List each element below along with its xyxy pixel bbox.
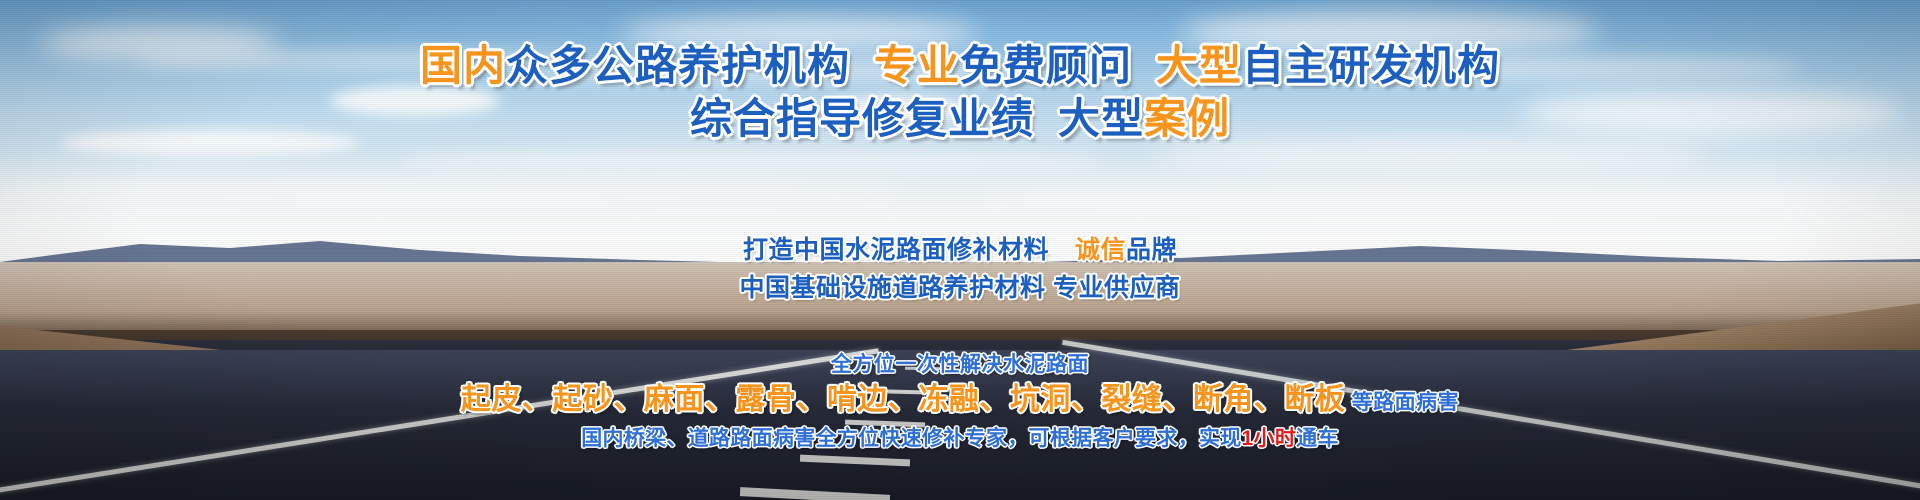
subheadline-segment: 品牌 [1126, 236, 1177, 264]
bottom-segment: 等路面病害 [1345, 391, 1459, 414]
headline-segment: 众多公路养护机构 [506, 42, 850, 89]
headline-block: 国内众多公路养护机构专业免费顾问大型自主研发机构 综合指导修复业绩大型案例 [0, 40, 1920, 144]
bottom-line-2: 起皮、起砂、麻面、露骨、啃边、冻融、坑洞、裂缝、断角、断板 等路面病害 [0, 380, 1920, 419]
headline-segment: 自主研发机构 [1242, 42, 1500, 89]
headline-line-2: 综合指导修复业绩大型案例 [0, 93, 1920, 144]
banner-content: 国内众多公路养护机构专业免费顾问大型自主研发机构 综合指导修复业绩大型案例 打造… [0, 0, 1920, 500]
headline-segment: 免费顾问 [960, 42, 1132, 89]
bottom-segment-highlight: 1小时 [1242, 427, 1297, 450]
subheadline-segment: 专业供应商 [1046, 274, 1181, 302]
headline-segment: 案例 [1144, 95, 1230, 142]
bottom-line-1: 全方位一次性解决水泥路面 [0, 352, 1920, 378]
bottom-segment: 起皮、起砂、麻面、露骨、啃边、冻融、坑洞、裂缝、断角、断板 [461, 383, 1346, 416]
headline-segment: 国内 [420, 42, 506, 89]
subheadline-line-1: 打造中国水泥路面修补材料诚信品牌 [0, 232, 1920, 270]
bottom-segment: 全方位一次性解决水泥路面 [831, 353, 1089, 376]
bottom-segment: 通车 [1296, 427, 1339, 450]
subheadline-segment: 打造中国水泥路面修补材料 [743, 236, 1049, 264]
bottom-segment: 国内桥梁、道路路面病害全方位快速修补专家，可根据客户要求，实现 [581, 427, 1241, 450]
subheadline-segment: 中国基础设施道路养护材料 [740, 274, 1046, 302]
headline-segment: 大型 [1058, 95, 1144, 142]
headline-segment: 综合指导修复业绩 [690, 95, 1034, 142]
subheadline-block: 打造中国水泥路面修补材料诚信品牌 中国基础设施道路养护材料 专业供应商 [0, 232, 1920, 307]
subheadline-line-2: 中国基础设施道路养护材料 专业供应商 [0, 270, 1920, 308]
promo-banner: 国内众多公路养护机构专业免费顾问大型自主研发机构 综合指导修复业绩大型案例 打造… [0, 0, 1920, 500]
headline-line-1: 国内众多公路养护机构专业免费顾问大型自主研发机构 [0, 40, 1920, 91]
subheadline-segment: 诚信 [1075, 236, 1126, 264]
headline-segment: 大型 [1156, 42, 1242, 89]
bottom-block: 全方位一次性解决水泥路面 起皮、起砂、麻面、露骨、啃边、冻融、坑洞、裂缝、断角、… [0, 352, 1920, 453]
headline-segment: 专业 [874, 42, 960, 89]
bottom-line-3: 国内桥梁、道路路面病害全方位快速修补专家，可根据客户要求，实现1小时通车 [0, 425, 1920, 452]
